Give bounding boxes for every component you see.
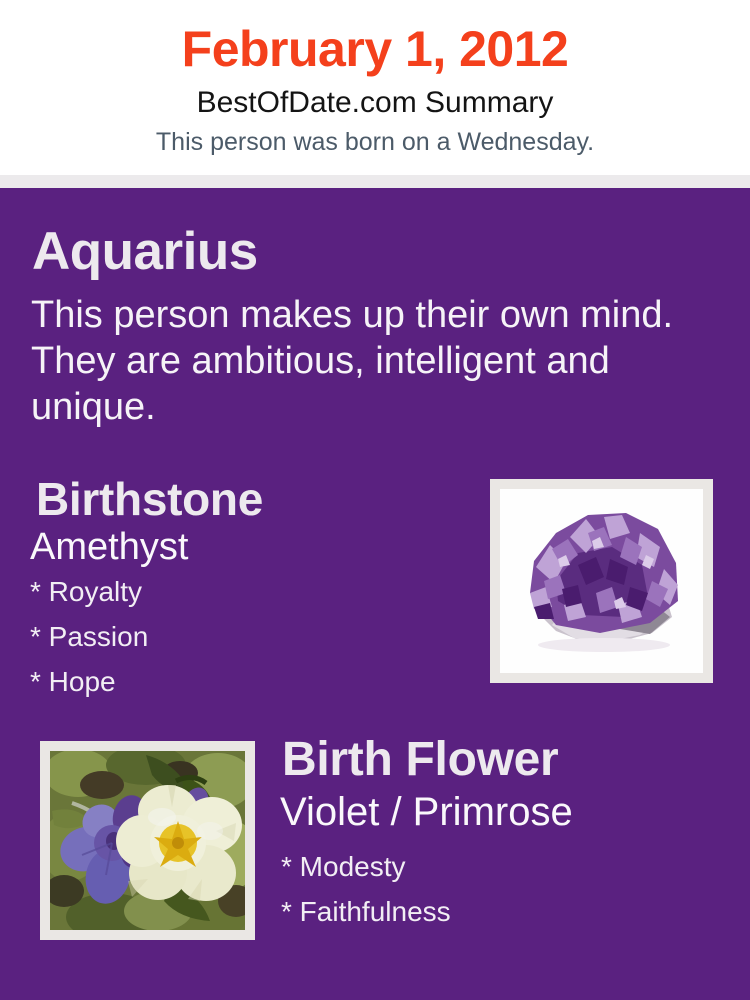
list-item: * Royalty <box>30 578 450 606</box>
summary-card: February 1, 2012 BestOfDate.com Summary … <box>0 0 750 1000</box>
details-panel: Aquarius This person makes up their own … <box>0 188 750 1000</box>
violet-primrose-flower-icon <box>50 751 245 930</box>
site-summary-subtitle: BestOfDate.com Summary <box>0 86 750 119</box>
header-divider <box>0 175 750 188</box>
birthstone-image <box>500 489 703 673</box>
list-item: * Faithfulness <box>281 898 711 926</box>
page-title-date: February 1, 2012 <box>0 22 750 76</box>
birthstone-trait-list: * Royalty * Passion * Hope <box>30 578 450 713</box>
birthstone-name: Amethyst <box>30 528 188 566</box>
amethyst-crystal-icon <box>500 489 703 673</box>
born-day-line: This person was born on a Wednesday. <box>0 129 750 157</box>
list-item: * Modesty <box>281 853 711 881</box>
header: February 1, 2012 BestOfDate.com Summary … <box>0 0 750 175</box>
birthstone-heading: Birthstone <box>36 476 263 522</box>
birth-flower-name: Violet / Primrose <box>280 792 573 832</box>
birth-flower-heading: Birth Flower <box>282 736 558 784</box>
zodiac-sign-heading: Aquarius <box>32 225 258 278</box>
list-item: * Passion <box>30 623 450 651</box>
zodiac-description: This person makes up their own mind. The… <box>31 293 691 431</box>
birth-flower-image <box>50 751 245 930</box>
birth-flower-image-frame <box>40 741 255 940</box>
birthstone-image-frame <box>490 479 713 683</box>
list-item: * Hope <box>30 668 450 696</box>
birth-flower-trait-list: * Modesty * Faithfulness <box>281 853 711 943</box>
